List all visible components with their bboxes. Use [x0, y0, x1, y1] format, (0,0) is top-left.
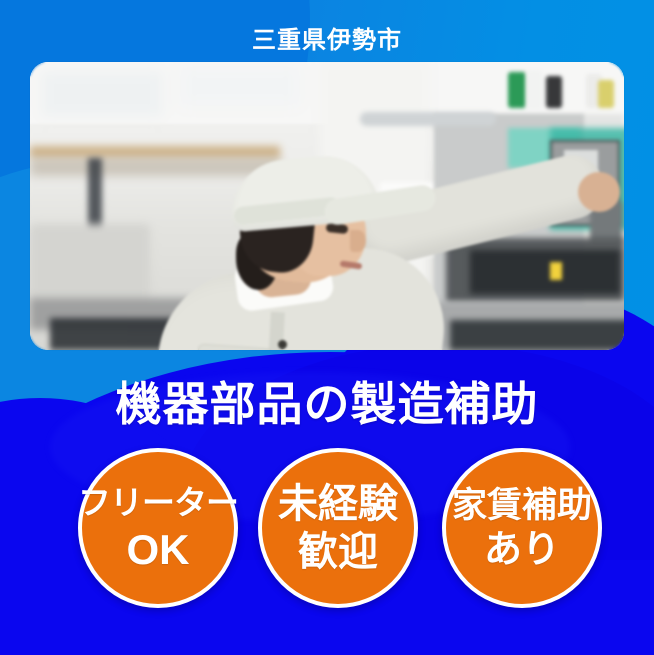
badge-freeter-ok: フリーター OK	[78, 448, 238, 608]
badge-rent-subsidy: 家賃補助 あり	[442, 448, 602, 608]
badge-line-2: OK	[127, 529, 190, 571]
photo-blur-overlay	[30, 62, 624, 350]
page-title: 機器部品の製造補助	[0, 368, 654, 434]
badge-line-1: 未経験	[278, 484, 398, 524]
badge-line-1: 家賃補助	[452, 488, 592, 523]
job-photo	[30, 62, 624, 350]
badge-group: フリーター OK 未経験 歓迎 家賃補助 あり	[0, 448, 654, 612]
badge-line-2: 歓迎	[298, 532, 378, 572]
job-ad-poster: 三重県伊勢市	[0, 0, 654, 655]
location-label: 三重県伊勢市	[0, 20, 654, 55]
badge-line-1: フリーター	[78, 486, 238, 519]
badge-no-experience-welcome: 未経験 歓迎	[258, 448, 418, 608]
badge-line-2: あり	[484, 531, 560, 569]
